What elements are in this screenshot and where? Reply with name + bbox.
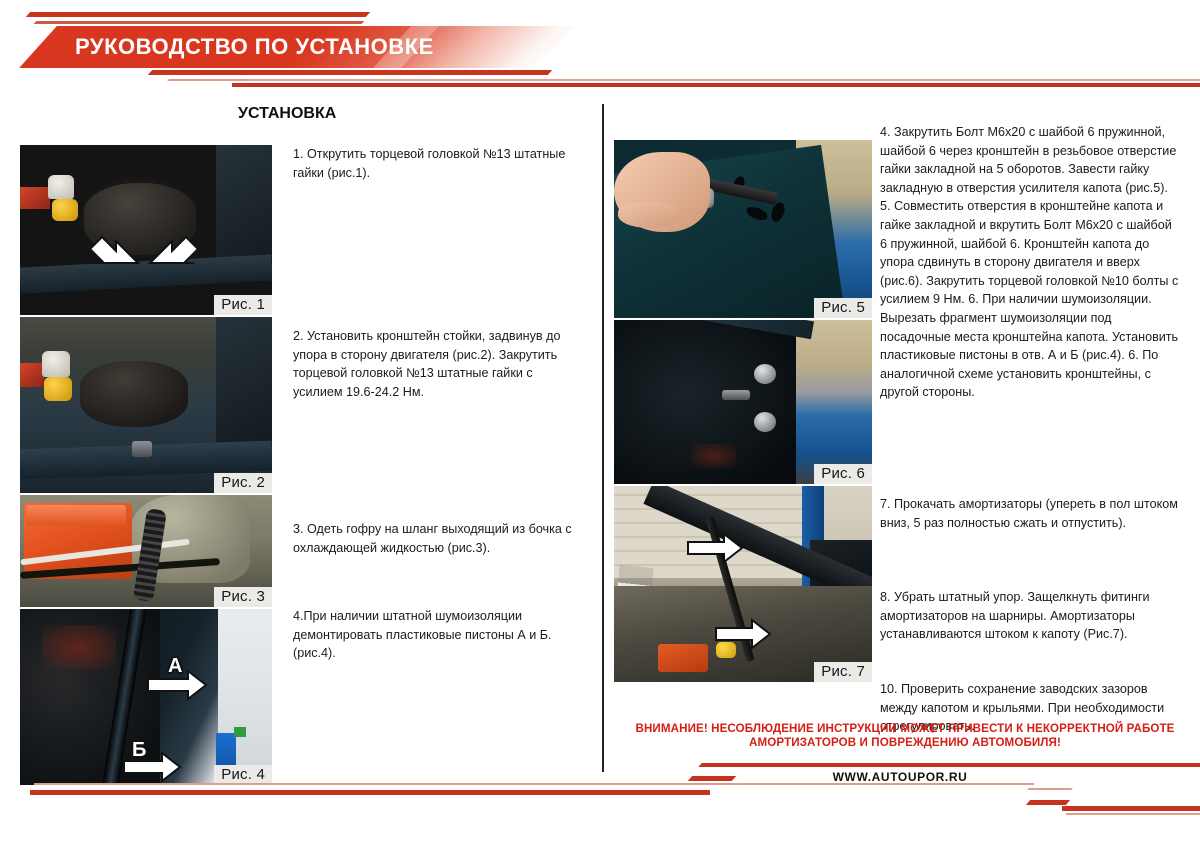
footer-rule-low: [1062, 806, 1200, 811]
figure-5-caption: Рис. 5: [814, 298, 872, 318]
arrow-right-b-icon: [20, 609, 272, 785]
double-arrow-icon: [20, 145, 272, 315]
figure-7-caption: Рис. 7: [814, 662, 872, 682]
figure-7-photo: Рис. 7: [614, 486, 872, 682]
step-paragraph-1: 1. Открутить торцевой головкой №13 штатн…: [293, 145, 583, 182]
figure-2-caption: Рис. 2: [214, 473, 272, 493]
footer-rule-left: [30, 790, 710, 795]
footer-rule-light: [34, 783, 1034, 785]
footer-rule-low-light: [1066, 813, 1200, 815]
page-header: РУКОВОДСТВО ПО УСТАНОВКЕ: [0, 0, 1200, 100]
footer-rule-top: [730, 763, 1200, 767]
step-paragraph-right-1: 4. Закрутить Болт М6х20 с шайбой 6 пружи…: [880, 123, 1180, 402]
page-footer: WWW.AUTOUPOR.RU: [0, 760, 1200, 848]
step-paragraph-3: 3. Одеть гофру на шланг выходящий из боч…: [293, 520, 583, 557]
header-rule-light: [248, 79, 1200, 81]
figure-1-photo: Рис. 1: [20, 145, 272, 315]
figure-3-photo: Рис. 3: [20, 495, 272, 607]
header-rule: [232, 83, 1200, 87]
footer-url: WWW.AUTOUPOR.RU: [700, 770, 1100, 784]
step-paragraph-right-2: 7. Прокачать амортизаторы (упереть в пол…: [880, 495, 1180, 532]
figure-5-photo: Рис. 5: [614, 140, 872, 318]
page-title: УСТАНОВКА: [238, 105, 336, 123]
figure-1-caption: Рис. 1: [214, 295, 272, 315]
step-paragraph-right-3: 8. Убрать штатный упор. Защелкнуть фитин…: [880, 588, 1180, 644]
column-divider: [602, 104, 604, 772]
figure-3-caption: Рис. 3: [214, 587, 272, 607]
arrow-right-lower-icon: [614, 486, 872, 682]
header-decor-line-top-thin: [34, 21, 365, 24]
figure-6-caption: Рис. 6: [814, 464, 872, 484]
figure-6-photo: Рис. 6: [614, 320, 872, 484]
footer-decor-diagonal-light: [1027, 788, 1073, 790]
header-decor-line-top: [26, 12, 371, 17]
footer-decor-diagonal-mid: [688, 776, 737, 781]
banner-title: РУКОВОДСТВО ПО УСТАНОВКЕ: [75, 28, 595, 66]
figure-4-photo: А Б Рис. 4: [20, 609, 272, 785]
step-paragraph-2: 2. Установить кронштейн стойки, задвинув…: [293, 327, 585, 401]
warning-text: ВНИМАНИЕ! НЕСОБЛЮДЕНИЕ ИНСТРУКЦИИ МОЖЕТ …: [612, 722, 1198, 749]
figure-2-photo: Рис. 2: [20, 317, 272, 493]
step-paragraph-4: 4.При наличии штатной шумоизоляции демон…: [293, 607, 583, 663]
footer-decor-diagonal-low: [1026, 800, 1070, 805]
header-rule-diagonal: [198, 70, 246, 74]
